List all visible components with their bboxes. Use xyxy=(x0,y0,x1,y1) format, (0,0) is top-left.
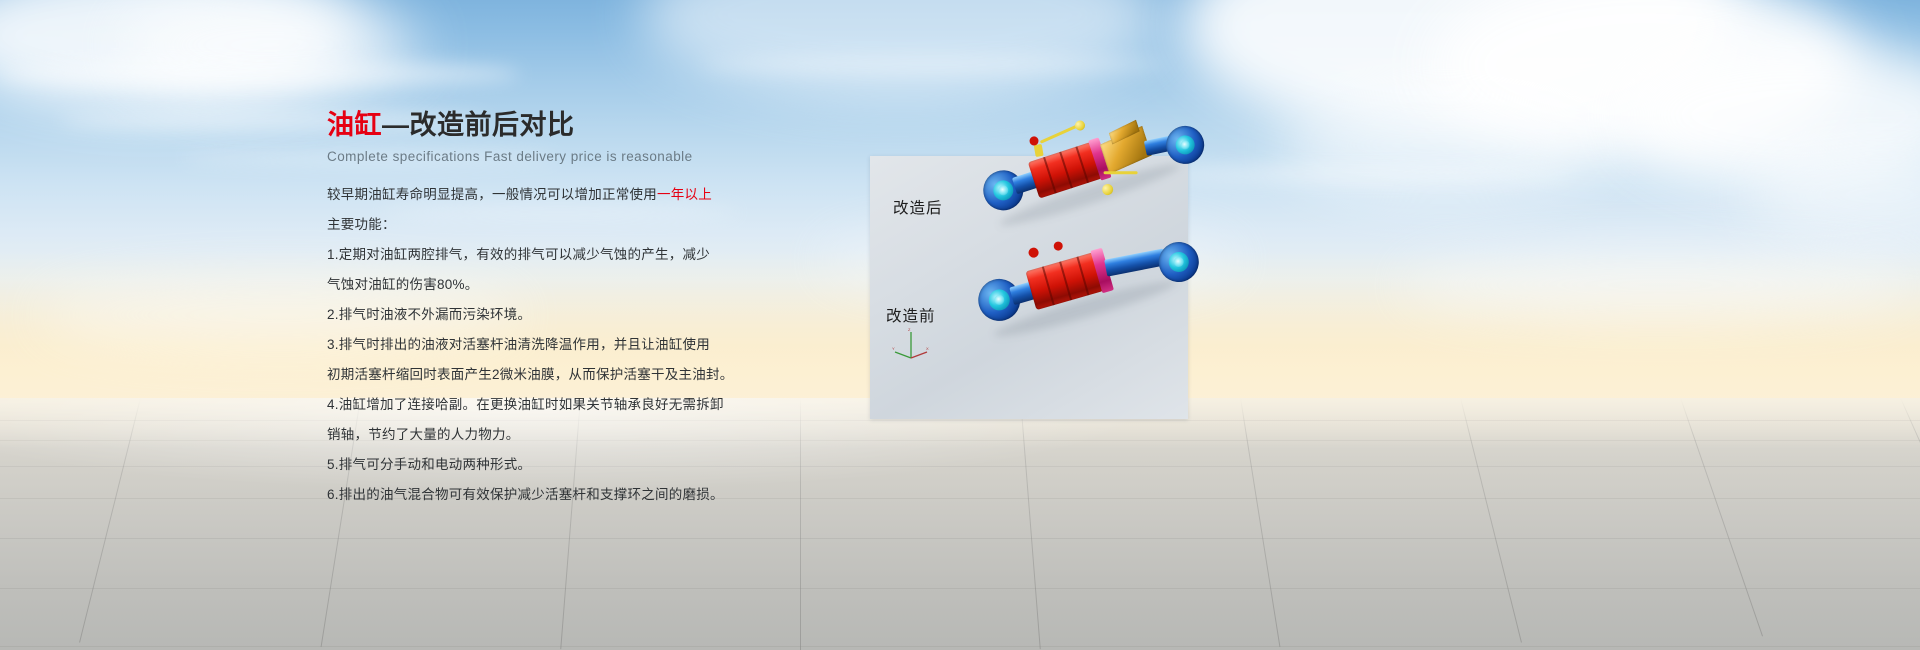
body-line-1-text: 较早期油缸寿命明显提高，一般情况可以增加正常使用 xyxy=(327,187,657,202)
piston-rod-right-before xyxy=(1104,248,1166,276)
body-line-9: 销轴，节约了大量的人力物力。 xyxy=(327,423,797,446)
body-line-3: 1.定期对油缸两腔排气，有效的排气可以减少气蚀的产生，减少 xyxy=(327,243,797,266)
body-line-5: 2.排气时油液不外漏而污染环境。 xyxy=(327,303,797,326)
body-line-2: 主要功能： xyxy=(327,213,797,236)
svg-text:Z: Z xyxy=(908,328,911,332)
banner-stage: 油缸—改造前后对比 Complete specifications Fast d… xyxy=(0,0,1920,650)
ground-specular xyxy=(0,398,1920,650)
page-subtitle: Complete specifications Fast delivery pr… xyxy=(327,148,797,166)
port-cap2-before xyxy=(1053,241,1064,252)
plaza-ground xyxy=(0,398,1920,650)
body-line-1-highlight: 一年以上 xyxy=(657,187,712,202)
body-line-10: 5.排气可分手动和电动两种形式。 xyxy=(327,453,797,476)
label-before-modification: 改造前 xyxy=(886,304,936,326)
body-line-1: 较早期油缸寿命明显提高，一般情况可以增加正常使用一年以上 xyxy=(327,183,797,206)
page-title: 油缸—改造前后对比 xyxy=(327,108,797,142)
feature-text-block: 较早期油缸寿命明显提高，一般情况可以增加正常使用一年以上 主要功能： 1.定期对… xyxy=(327,183,797,506)
title-highlight: 油缸 xyxy=(327,110,382,140)
banner-copy: 油缸—改造前后对比 Complete specifications Fast d… xyxy=(327,108,797,513)
body-line-7: 初期活塞杆缩回时表面产生2微米油膜，从而保护活塞干及主油封。 xyxy=(327,363,797,386)
svg-text:X: X xyxy=(926,346,929,351)
body-line-4: 气蚀对油缸的伤害80%。 xyxy=(327,273,797,296)
title-rest: —改造前后对比 xyxy=(382,110,575,140)
bleed-tube-lower-after xyxy=(1104,171,1138,174)
svg-text:Y: Y xyxy=(892,346,895,351)
body-line-8: 4.油缸增加了连接哈副。在更换油缸时如果关节轴承良好无需拆卸 xyxy=(327,393,797,416)
product-image-panel: 改造后 改造前 Z Y X xyxy=(870,156,1188,419)
cad-axis-triad-icon: Z Y X xyxy=(892,328,930,362)
label-after-modification: 改造后 xyxy=(893,196,943,218)
body-line-11: 6.排出的油气混合物可有效保护减少活塞杆和支撑环之间的磨损。 xyxy=(327,483,797,506)
body-line-6: 3.排气时排出的油液对活塞杆油清洗降温作用，并且让油缸使用 xyxy=(327,333,797,356)
port-cap-before xyxy=(1027,246,1039,258)
